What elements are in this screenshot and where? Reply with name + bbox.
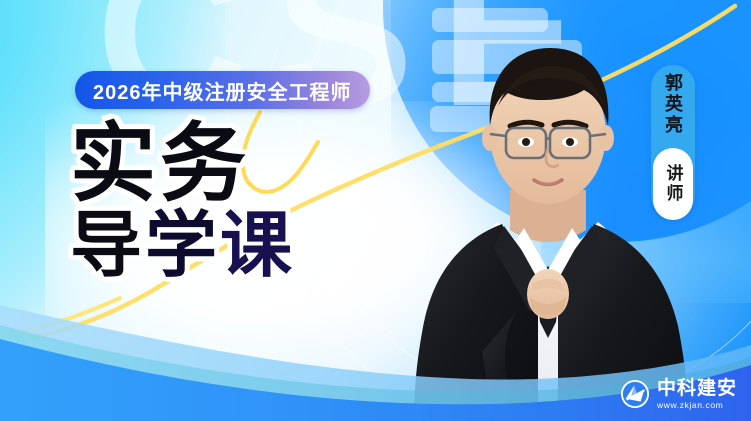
headline-line-1: 实务 — [70, 123, 295, 206]
instructor-role: 讲师 — [665, 164, 682, 204]
instructor-name: 郭英亮 — [664, 73, 682, 136]
instructor-role-pill: 讲师 — [653, 148, 693, 220]
course-category-badge: 2026年中级注册安全工程师 — [75, 71, 370, 109]
zkjan-logo-icon — [620, 379, 650, 409]
course-poster: CSE — [0, 0, 751, 421]
badge-label: 2026年中级注册安全工程师 — [93, 76, 352, 105]
logo-company-name: 中科建安 — [657, 379, 737, 398]
brand-logo[interactable]: 中科建安 www.zkjan.com — [620, 379, 737, 410]
poster-headline: 实务 导学课 — [70, 123, 295, 282]
logo-text-group: 中科建安 www.zkjan.com — [657, 379, 737, 410]
logo-website-url: www.zkjan.com — [657, 401, 737, 410]
